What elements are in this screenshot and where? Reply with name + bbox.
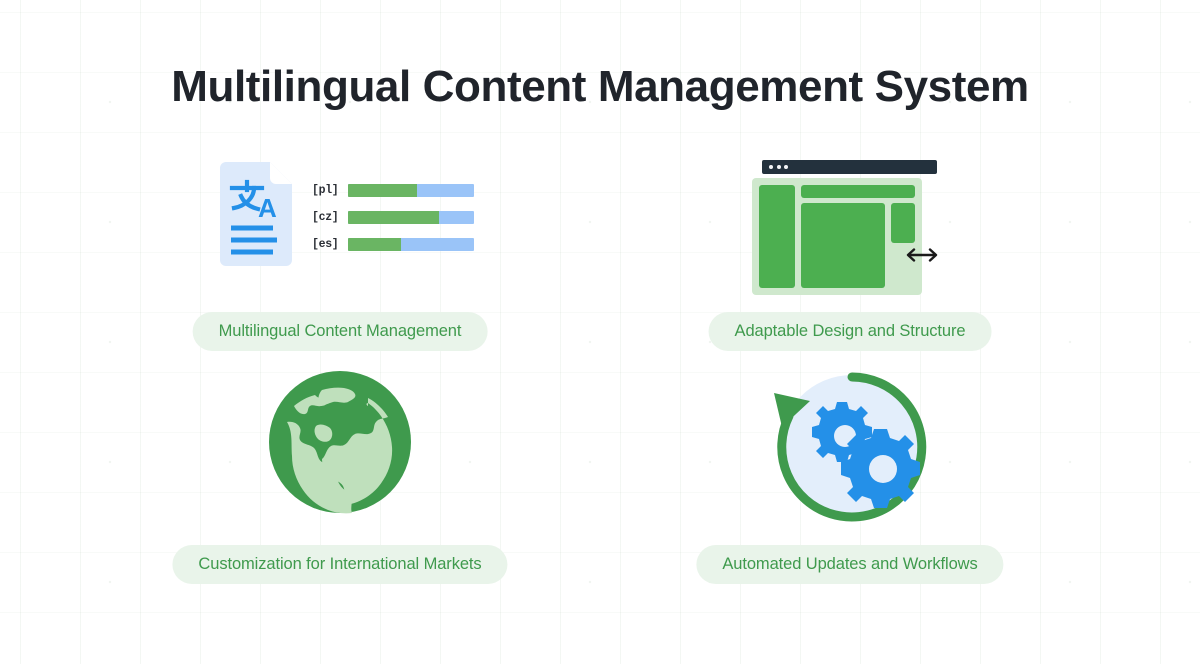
browser-wireframe-icon xyxy=(752,160,952,295)
svg-text:A: A xyxy=(258,193,277,223)
translate-document-icon: A xyxy=(220,162,292,266)
translate-group: A [pl] [cz] xyxy=(220,162,480,282)
bar-label: [cz] xyxy=(312,211,348,224)
bar-track xyxy=(348,184,474,197)
page-title: Multilingual Content Management System xyxy=(0,62,1200,112)
layout-panel-right xyxy=(891,203,915,243)
adaptable-design-artwork xyxy=(640,150,1060,300)
label-international-markets: Customization for International Markets xyxy=(172,545,507,584)
automated-updates-artwork xyxy=(640,365,1060,515)
bar-row: [es] xyxy=(312,238,474,251)
window-dot-icon xyxy=(769,165,773,169)
bar-row: [pl] xyxy=(312,184,474,197)
international-markets-artwork xyxy=(130,365,550,515)
layout-panel-header xyxy=(801,185,915,198)
label-automated-updates: Automated Updates and Workflows xyxy=(696,545,1003,584)
bar-fill xyxy=(348,184,417,197)
quadrant-adaptable-design: Adaptable Design and Structure xyxy=(640,150,1060,360)
window-dot-icon xyxy=(784,165,788,169)
resize-horizontal-arrow-icon[interactable] xyxy=(904,244,940,266)
bar-label: [pl] xyxy=(312,184,348,197)
gears-refresh-icon xyxy=(766,365,934,525)
browser-title-bar xyxy=(762,160,937,174)
bar-label: [es] xyxy=(312,238,348,251)
multilingual-artwork: A [pl] [cz] xyxy=(130,150,550,300)
quadrant-international-markets: Customization for International Markets xyxy=(130,365,550,593)
bar-row: [cz] xyxy=(312,211,474,224)
quadrant-automated-updates: Automated Updates and Workflows xyxy=(640,365,1060,593)
bar-track xyxy=(348,238,474,251)
translation-progress-bars: [pl] [cz] [es] xyxy=(312,184,474,251)
label-adaptable-design: Adaptable Design and Structure xyxy=(709,312,992,351)
quadrant-multilingual-content: A [pl] [cz] xyxy=(130,150,550,360)
browser-body xyxy=(752,178,922,295)
bar-fill xyxy=(348,211,439,224)
slide-canvas: Multilingual Content Management System A xyxy=(0,0,1200,664)
layout-panel-sidebar xyxy=(759,185,795,288)
label-multilingual-content: Multilingual Content Management xyxy=(193,312,488,351)
bar-track xyxy=(348,211,474,224)
globe-icon xyxy=(268,370,412,514)
layout-panel-main xyxy=(801,203,885,288)
window-dot-icon xyxy=(777,165,781,169)
bar-fill xyxy=(348,238,401,251)
